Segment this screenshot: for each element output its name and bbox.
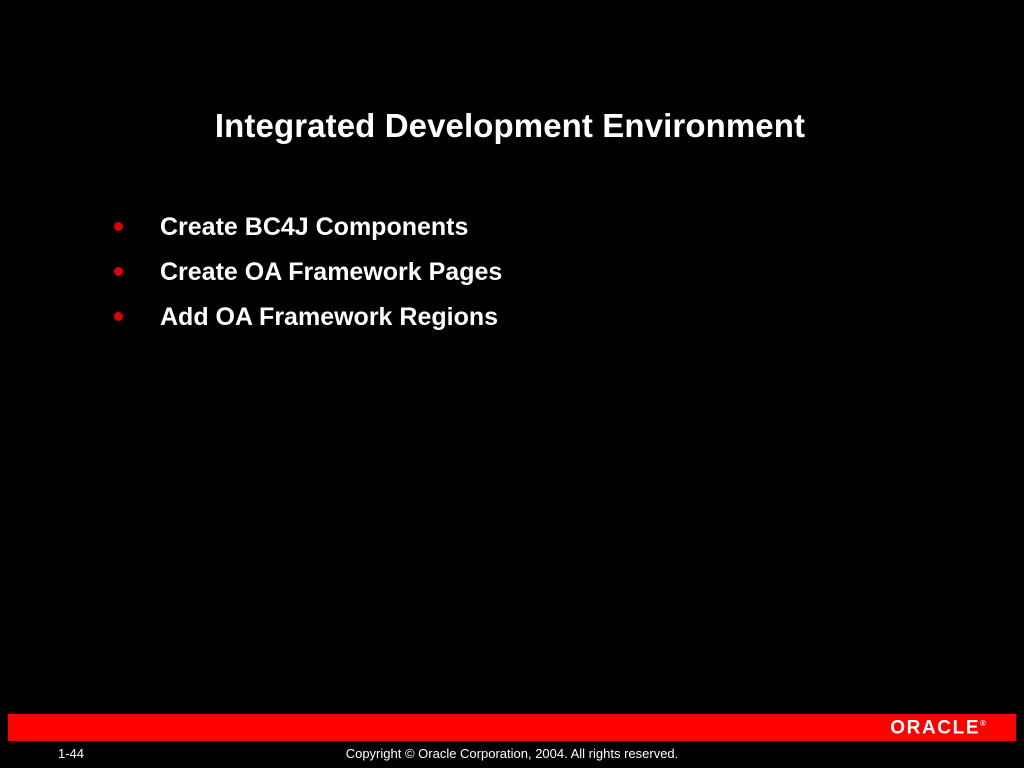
list-item-label: Add OA Framework Regions — [160, 304, 498, 332]
presentation-slide: Integrated Development Environment Creat… — [0, 0, 1024, 768]
list-item: Create BC4J Components — [110, 205, 910, 250]
list-item-label: Create OA Framework Pages — [160, 259, 502, 287]
registered-trademark-icon: ® — [980, 719, 986, 728]
oracle-wordmark: ORACLE — [890, 717, 980, 738]
copyright-notice: Copyright © Oracle Corporation, 2004. Al… — [0, 744, 1024, 764]
page-title: Integrated Development Environment — [0, 108, 1020, 144]
oracle-logo: ORACLE® — [890, 718, 986, 737]
footer-brand-bar: ORACLE® — [8, 714, 1016, 741]
red-dot-bullet-icon — [114, 267, 123, 276]
footer-meta: 1-44 Copyright © Oracle Corporation, 200… — [0, 744, 1024, 766]
list-item: Add OA Framework Regions — [110, 295, 910, 340]
list-item: Create OA Framework Pages — [110, 250, 910, 295]
bullet-list: Create BC4J Components Create OA Framewo… — [110, 205, 910, 340]
list-item-label: Create BC4J Components — [160, 214, 468, 242]
red-dot-bullet-icon — [114, 312, 123, 321]
red-dot-bullet-icon — [114, 222, 123, 231]
